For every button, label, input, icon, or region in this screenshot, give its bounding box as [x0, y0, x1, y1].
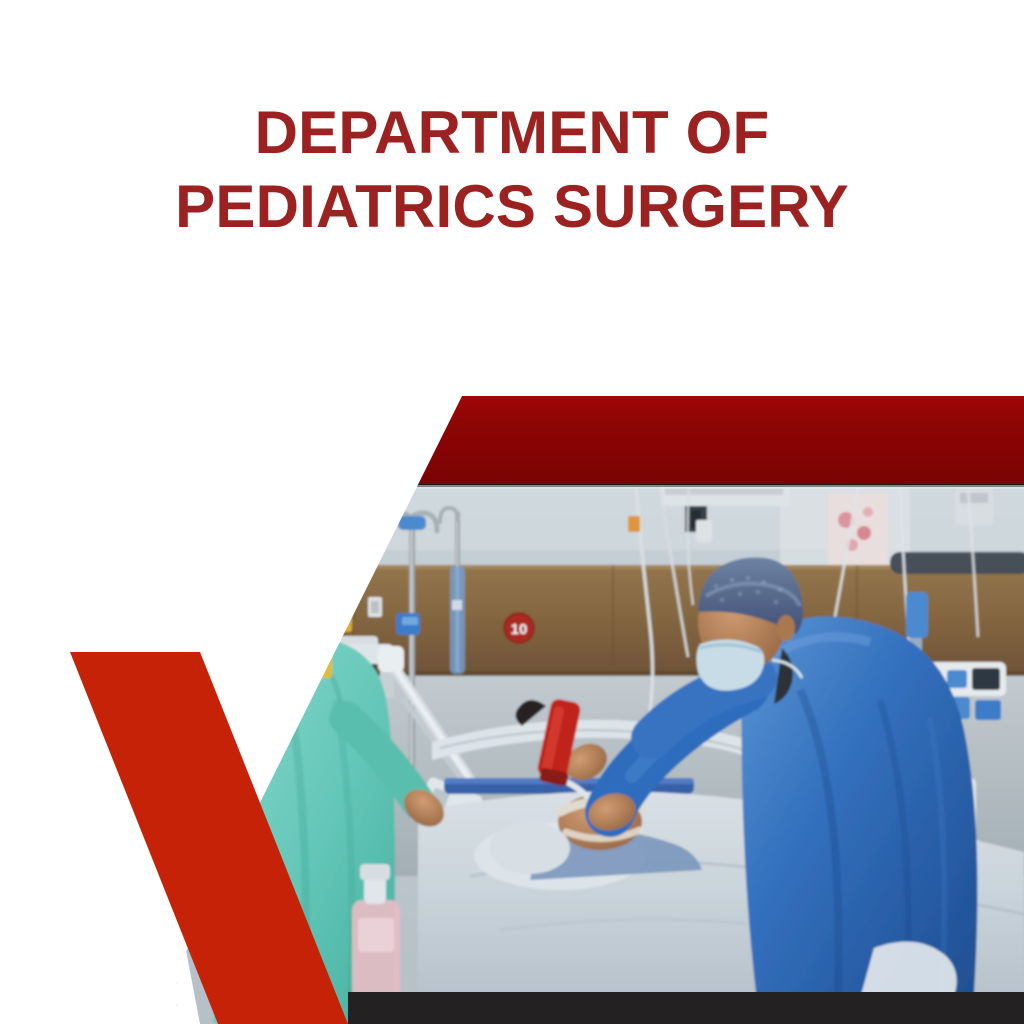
poster-canvas: DEPARTMENT OF PEDIATRICS SURGERY — [0, 0, 1024, 1024]
bottom-dark-bar — [348, 992, 1024, 1024]
banner-red-shape — [391, 390, 1024, 484]
hero-composition: 10 — [0, 0, 1024, 1024]
hero-composition-svg: 10 — [0, 0, 1024, 1024]
